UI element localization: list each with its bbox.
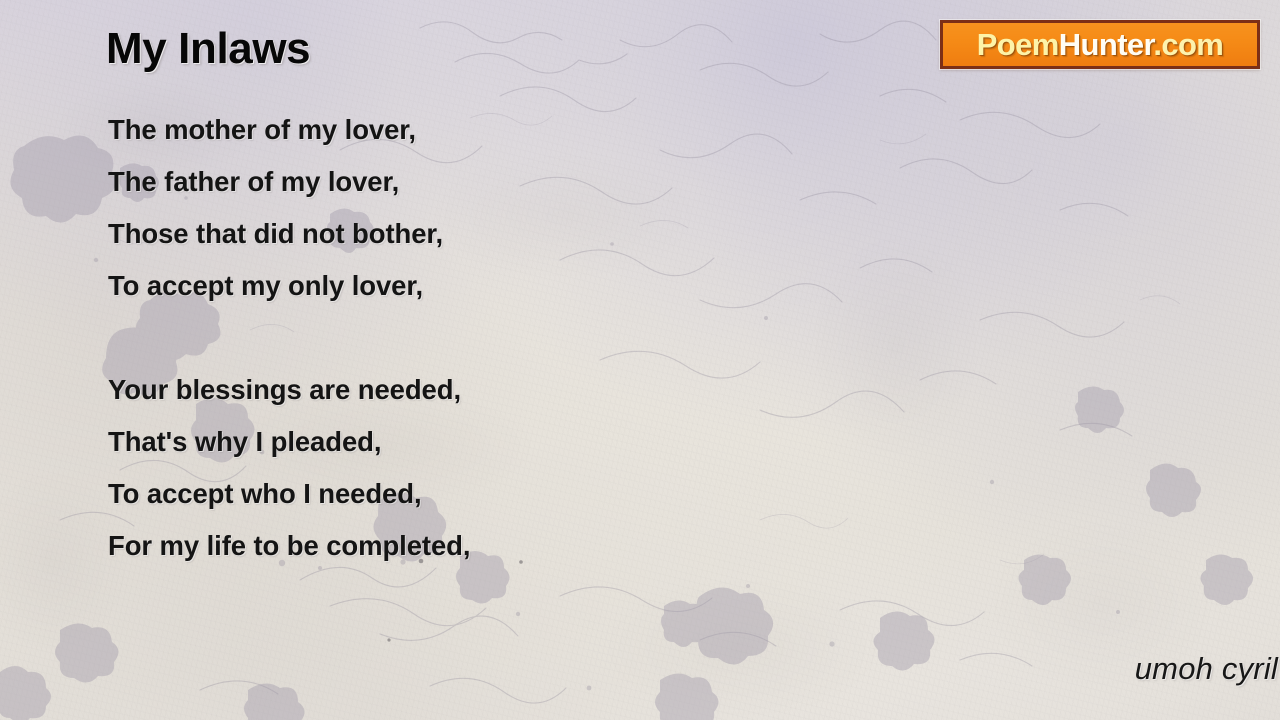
poem-title: My Inlaws: [106, 24, 310, 74]
poem-line: For my life to be completed,: [108, 524, 868, 576]
poem-line: The father of my lover,: [108, 160, 868, 212]
poem-line: Your blessings are needed,: [108, 368, 868, 420]
poemhunter-logo[interactable]: PoemHunter.com: [940, 20, 1260, 69]
poem-body: The mother of my lover,The father of my …: [108, 108, 868, 576]
poem-line: To accept who I needed,: [108, 472, 868, 524]
logo-segment-dotcom: .com: [1153, 27, 1223, 62]
logo-text-wrapper: PoemHunter.com: [977, 29, 1224, 60]
author-signature: umoh cyril: [1135, 651, 1278, 687]
logo-segment-hunter: Hunter: [1059, 27, 1154, 62]
logo-segment-poem: Poem: [977, 27, 1059, 62]
poem-stanza-break: [108, 316, 868, 368]
poem-line: The mother of my lover,: [108, 108, 868, 160]
poem-image-canvas: My Inlaws PoemHunter.com The mother of m…: [0, 0, 1280, 720]
poem-line: To accept my only lover,: [108, 264, 868, 316]
poem-line: That's why I pleaded,: [108, 420, 868, 472]
poem-line: Those that did not bother,: [108, 212, 868, 264]
